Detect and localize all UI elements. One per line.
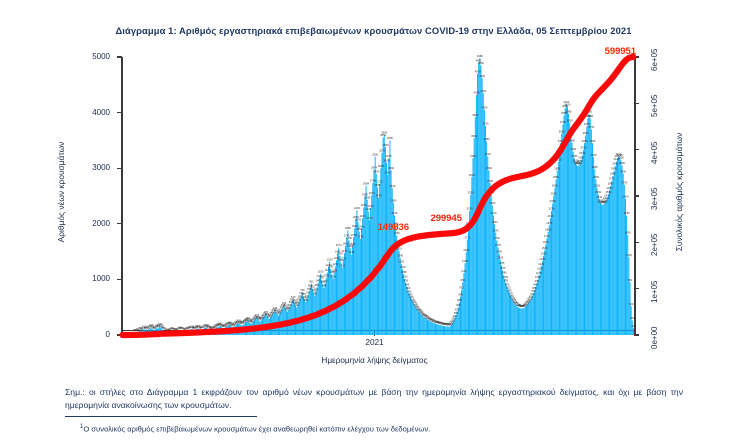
bar-value-label: 3920 [472,113,478,117]
bar [490,183,491,335]
bar-value-label: 3000 [378,164,384,168]
bar-value-label: 1990 [492,220,498,224]
bar [592,143,593,335]
bar [545,244,546,335]
bar-value-label: 3180 [571,154,577,158]
bar [582,155,583,335]
bar [292,302,293,335]
bar [312,289,313,335]
bar-value-label: 1336 [340,256,346,260]
bar [514,302,515,335]
bar [609,190,610,335]
bar-value-label: 1165 [500,266,506,270]
bar [370,208,371,335]
bar [625,199,626,335]
bar-value-label: 3180 [470,154,476,158]
bar [533,293,534,335]
footnote-text: 1Ο συνολικός αριθμός επιβεβαιωμένων κρου… [80,423,680,435]
bar-value-label: 2960 [486,166,492,170]
bar [557,171,558,335]
bar-value-label: 2880 [385,171,391,175]
bar [419,312,420,335]
bar-value-label: 2650 [552,183,558,187]
y-tick-left-label-2000: 2000 [68,219,110,228]
bar-value-label: 3200 [591,153,597,157]
bar-value-label: 2490 [362,192,368,196]
bar-value-label: 2150 [624,211,630,215]
y-tick-left-label-4000: 4000 [68,108,110,117]
bar-value-label: 2980 [592,165,598,169]
bar [420,314,421,335]
bar-value-label: 1010 [402,275,408,279]
bar-value-label: 865 [405,283,410,287]
bar [526,306,527,335]
bar-value-label: 1355 [497,255,503,259]
bar [612,176,613,335]
bar-value-label: 2770 [609,177,615,181]
bar [578,165,579,335]
bar [558,162,559,335]
bar [401,264,402,335]
bar [524,308,525,335]
chart-figure: 010002000300040005000 0e+001e+052e+053e+… [62,42,687,372]
bar-value-label: 2950 [611,167,617,171]
bar-value-label: 585 [457,298,462,302]
bar [549,225,550,335]
bar [461,290,462,335]
bar [602,205,603,335]
bar-value-label: 1155 [537,266,543,270]
y-axis-left-label: Αριθμός νέων κρουσμάτων [56,142,66,243]
bar [442,326,443,335]
bar-value-label: 1390 [397,253,403,257]
bar [449,327,450,335]
bar-value-label: 2955 [554,166,560,170]
bar-value-label: 1460 [496,250,502,254]
y-tick-right-label-4e+05: 4e+05 [650,141,659,163]
chart-note: Σημ.: οι στήλες στο Διάγραμμα 1 εκφράζου… [65,386,683,413]
bar-value-label: 2530 [595,190,601,194]
bar-value-label: 1095 [401,270,407,274]
bar [600,203,601,335]
bar-value-label: 3380 [382,143,388,147]
bar [595,179,596,335]
bar-value-label: 1280 [398,260,404,264]
bar [399,251,400,335]
bar-value-label: 1975 [546,221,552,225]
bar-value-label: 1290 [462,259,468,263]
bar-value-label: 260 [630,316,635,320]
bar-value-label: 865 [533,283,538,287]
bar [610,186,611,335]
bar [517,307,518,335]
bar [544,250,545,335]
bar [539,275,540,335]
bar-value-label: 1330 [539,257,545,261]
bar-value-label: 2428 [364,196,370,200]
bar [471,177,472,335]
bar-value-label: 4320 [473,91,479,95]
bar-value-label: 3040 [612,162,618,166]
bar-value-label: 4050 [481,106,487,110]
bar-value-label: 2900 [620,169,626,173]
bar [551,211,552,335]
bar [556,179,557,335]
bar [546,238,547,335]
bar [349,240,350,335]
bar [561,134,562,335]
bar [515,304,516,335]
bar [590,118,591,335]
bar-value-label: 4350 [480,89,486,93]
bar-value-label: 2505 [551,191,557,195]
bar [376,174,377,335]
bar-value-label: 2974 [371,165,377,169]
bar [527,304,528,335]
bar-value-label: 1574 [336,243,342,247]
bar [553,196,554,335]
bar [427,320,428,335]
bar-value-label: 3050 [619,161,625,165]
bar-value-label: 950 [628,278,633,282]
bar [594,169,595,335]
bar [525,307,526,335]
bar [584,143,585,335]
bar [597,188,598,335]
bar-value-label: 1700 [494,236,500,240]
bar [587,118,588,335]
bar-value-label: 2640 [389,184,395,188]
bar [543,256,544,335]
bar [358,222,359,335]
annotation-mid-milestone: 299945 [430,213,461,224]
bar [448,327,449,335]
bar [512,301,513,335]
chart-data-layer: 4552664973816495110881027691120135108978… [122,57,634,335]
bar [359,231,360,335]
bar [450,326,451,335]
bar-value-label: 3620 [559,129,565,133]
bar [474,138,475,335]
bar [470,195,471,335]
bar [432,322,433,335]
bar-value-label: 1715 [464,235,470,239]
bar-value-label: 2722 [377,179,383,183]
bar [478,63,479,335]
bar-value-label: 2860 [610,172,616,176]
bar [368,211,369,335]
plot-area: 4552664973816495110881027691120135108978… [122,57,634,335]
bar [598,194,599,335]
bar [575,163,576,335]
bar-value-label: 3820 [567,118,573,122]
bar-value-label: 934 [323,279,328,283]
bar-value-label: 2800 [553,175,559,179]
bar [616,162,617,335]
bar [339,256,340,335]
page-title: Διάγραμμα 1: Αριθμός εργαστηριακά επιβεβ… [0,25,747,36]
bar-value-label: 2032 [355,218,361,222]
bar-value-label: 1448 [348,250,354,254]
bar [462,282,463,335]
bar [475,117,476,335]
bar [426,319,427,335]
bar [552,204,553,335]
bar-value-label: 3500 [387,136,393,140]
bar-value-label: 2294 [361,203,367,207]
bar [392,188,393,335]
bar [599,199,600,335]
bar-value-label: 768 [300,288,305,292]
bar [554,188,555,335]
bar [397,244,398,335]
bar [608,194,609,335]
bar [380,168,381,335]
bar-value-label: 1575 [495,243,501,247]
bar [628,257,629,335]
bar-value-label: 1100 [318,270,324,274]
bar [541,266,542,335]
bar [581,160,582,335]
bar [631,306,632,335]
bar-value-label: 3700 [588,125,594,129]
y-tick-right-2e+05 [634,242,639,243]
bar-value-label: 3600 [381,131,387,135]
y-tick-right-label-5e+05: 5e+05 [650,95,659,117]
bar [434,323,435,335]
bar [424,317,425,335]
bar-value-label: 3100 [384,158,390,162]
bar-value-label: 355 [454,311,459,315]
bar [446,326,447,335]
bar-value-label: 3590 [583,131,589,135]
bar [611,181,612,335]
bar-value-label: 935 [504,279,509,283]
bar-value-label: 3175 [386,154,392,158]
bar [548,232,549,335]
bar [465,263,466,335]
bar [433,323,434,335]
bar-value-label: 1255 [498,261,504,265]
bar [617,158,618,335]
bar-value-label: 3480 [484,137,490,141]
bar [531,299,532,335]
y-tick-right-3e+05 [634,195,639,196]
bar [562,124,563,335]
bar-value-label: 950 [461,278,466,282]
bar-value-label: 1740 [544,234,550,238]
bar-value-label: 4980 [477,54,483,58]
bar-value-label: 1316 [327,258,333,262]
bar [495,233,496,335]
bar [586,127,587,336]
bar [534,290,535,335]
bar [466,252,467,335]
bar [443,326,444,335]
y-tick-right-label-1e+05: 1e+05 [650,280,659,302]
bar [473,158,474,335]
bar-value-label: 1490 [463,248,469,252]
bar [540,271,541,335]
bar-value-label: 520 [629,302,634,306]
bar-value-label: 3540 [471,134,477,138]
bar [330,269,331,335]
bar-value-label: 935 [404,279,409,283]
bar [377,187,378,335]
bar-value-label: 930 [534,279,539,283]
bar [537,279,538,335]
bar-value-label: 1180 [400,265,406,269]
bar [467,240,468,335]
bar-value-label: 2658 [374,183,380,187]
page-root: Διάγραμμα 1: Αριθμός εργαστηριακά επιβεβ… [0,0,747,448]
bar-value-label: 1014 [330,274,336,278]
bar-value-label: 3300 [570,147,576,151]
y-tick-left-label-1000: 1000 [68,274,110,283]
bar-value-label: 2470 [376,193,382,197]
bar [619,157,620,335]
bar [605,203,606,335]
bar-value-label: 1075 [536,271,542,275]
bar-value-label: 1525 [542,246,548,250]
annotation-first-milestone: 149836 [378,222,409,233]
bar [568,114,569,335]
bar [516,306,517,335]
bar [550,218,551,335]
y-tick-right-4e+05 [634,149,639,150]
bar-value-label: 1906 [359,225,365,229]
bar-value-label: 780 [314,287,319,291]
bar-value-label: 1472 [341,249,347,253]
bar-value-label: 3276 [379,149,385,153]
bar [633,328,634,335]
bar [520,308,521,335]
bar [379,184,380,335]
bar [310,288,311,335]
bar-value-label: 690 [458,292,463,296]
bar-value-label: 1880 [345,226,351,230]
bar [620,160,621,335]
bar-value-label: 1840 [493,228,499,232]
y-axis-right-label: Συνολικός αριθμός κρουσμάτων [674,133,684,252]
bar [321,280,322,335]
bar [435,324,436,335]
bar [445,326,446,335]
bar-value-label: 3206 [372,152,378,156]
bar-value-label: 3450 [589,139,595,143]
bar-value-label: 720 [306,291,311,295]
bar-value-label: 1758 [351,233,357,237]
bar-value-label: 3330 [580,146,586,150]
bar-value-label: 920 [309,280,314,284]
bar [583,150,584,335]
bar [436,324,437,335]
bar-value-label: 1800 [625,231,631,235]
x-axis-tick-label-2021: 2021 [62,338,687,347]
bar-value-label: 1000 [535,275,541,279]
bar-value-label: 2800 [593,175,599,179]
bar [535,287,536,335]
bar [441,325,442,335]
y-tick-right-label-3e+05: 3e+05 [650,188,659,210]
bar [603,204,604,335]
bar [459,302,460,335]
bar-value-label: 1080 [501,271,507,275]
bar [493,215,494,335]
bar [485,126,486,335]
bar [627,235,628,335]
bar [569,123,570,335]
bar [350,248,351,335]
bar-value-label: 2510 [369,191,375,195]
bar [589,114,590,335]
annotation-final-total: 599951 [605,46,636,57]
bar-value-label: 2650 [594,183,600,187]
bar [570,133,571,335]
bar-value-label: 1596 [349,242,355,246]
bar-value-label: 2380 [390,198,396,202]
bar [579,163,580,335]
bar-value-label: 1005 [502,275,508,279]
bar [536,283,537,335]
bar-value-label: 652 [305,294,310,298]
bar [463,273,464,335]
bar [428,320,429,335]
bar-value-label: 708 [313,291,318,295]
bar [367,200,368,335]
bar-value-label: 2100 [547,214,553,218]
bar [421,315,422,335]
y-tick-right-5e+05 [634,103,639,104]
footnote-divider [65,416,257,417]
bar [560,143,561,335]
bar [528,303,529,335]
bar-value-label: 3980 [566,109,572,113]
bar [385,147,386,335]
bar [606,200,607,335]
bar [437,324,438,335]
bar [529,301,530,335]
bar-value-label: 2730 [487,179,493,183]
bar [576,165,577,335]
bar [444,326,445,335]
bar-value-label: 3900 [587,114,593,118]
bar-value-label: 2520 [468,191,474,195]
bar [572,143,573,335]
bar [614,171,615,335]
bar-value-label: 860 [315,283,320,287]
bar [542,261,543,335]
bar-value-label: 4700 [475,69,481,73]
bar [577,166,578,335]
bar-value-label: 2960 [388,166,394,170]
y-tick-right-1e+05 [634,288,639,289]
bar [615,166,616,335]
y-tick-right-label-2e+05: 2e+05 [650,234,659,256]
y-tick-left-label-5000: 5000 [68,52,110,61]
bar [492,205,493,335]
bar-value-label: 810 [459,286,464,290]
bar-value-label: 2230 [467,207,473,211]
bar-value-label: 848 [322,284,327,288]
bar [624,185,625,335]
bar [491,195,492,335]
bar [386,163,387,335]
bar-value-label: 3150 [618,156,624,160]
bar [521,308,522,335]
bar-value-label: 4850 [478,61,484,65]
bar-value-label: 1630 [543,240,549,244]
